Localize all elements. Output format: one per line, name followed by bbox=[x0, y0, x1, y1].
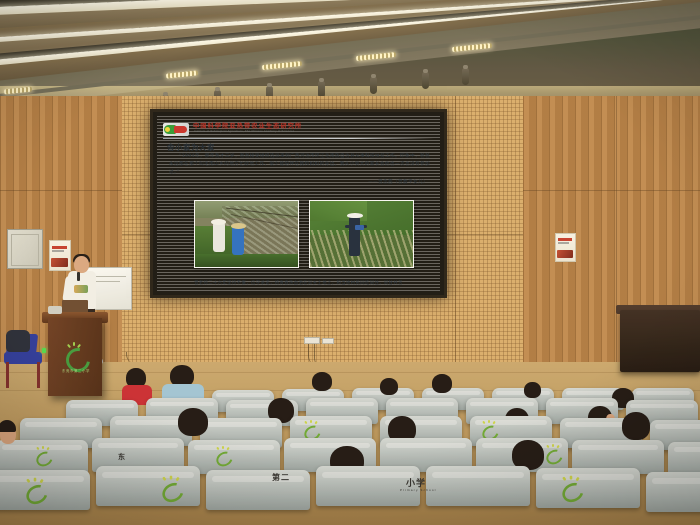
green-sprout-logo-icon bbox=[557, 476, 586, 497]
seat[interactable] bbox=[536, 468, 640, 508]
green-sprout-logo-icon bbox=[300, 420, 322, 436]
wall-poster bbox=[49, 240, 71, 271]
slide-title: 舍小家为大家 bbox=[167, 142, 215, 153]
podium-equipment bbox=[48, 306, 62, 314]
speaker-head bbox=[74, 256, 89, 273]
green-sprout-logo-icon bbox=[212, 446, 234, 462]
green-sprout-logo-icon bbox=[478, 420, 500, 436]
seat[interactable] bbox=[426, 466, 530, 506]
slide-body-span: “1994年，那年我才三岁，爸爸接受组织选派来到广西河池市环江毛南族自治县从事科… bbox=[169, 154, 430, 175]
microphone-icon bbox=[77, 272, 80, 281]
seat[interactable] bbox=[646, 472, 700, 512]
projection-screen: 中国科学院亚热带农业生态研究所 Institute of Subtropical… bbox=[150, 109, 447, 298]
shirt-print bbox=[74, 285, 88, 293]
slide-attribution: ——曾念茜（曾馥平女儿） bbox=[368, 179, 428, 185]
green-sprout-logo-icon bbox=[21, 478, 50, 499]
seat[interactable] bbox=[668, 442, 700, 476]
seat[interactable] bbox=[188, 440, 280, 474]
green-sprout-logo-icon bbox=[32, 446, 54, 462]
auditorium-scene: 中国科学院亚热带农业生态研究所 Institute of Subtropical… bbox=[0, 0, 700, 525]
presentation-slide: 中国科学院亚热带农业生态研究所 Institute of Subtropical… bbox=[157, 116, 440, 291]
acoustic-panel bbox=[455, 96, 525, 368]
wall-poster bbox=[555, 233, 576, 262]
header-divider bbox=[163, 138, 434, 139]
spotlight bbox=[422, 72, 429, 89]
photo-fieldwork-rocky-hillside bbox=[194, 200, 299, 268]
photo-fieldwork-green-slope bbox=[309, 200, 414, 268]
seat-cover-text: 东 bbox=[118, 452, 126, 462]
slide-body-text: “1994年，那年我才三岁，爸爸接受组织选派来到广西河池市环江毛南族自治县从事科… bbox=[169, 153, 430, 178]
green-sprout-logo-icon bbox=[542, 444, 564, 460]
green-sprout-logo-icon bbox=[157, 476, 186, 497]
seat-cover-text: 第二 bbox=[272, 472, 290, 483]
institute-logo-icon bbox=[163, 123, 189, 136]
slide-header: 中国科学院亚热带农业生态研究所 Institute of Subtropical… bbox=[163, 120, 434, 140]
seat[interactable] bbox=[206, 470, 310, 510]
power-outlet[interactable] bbox=[304, 337, 320, 344]
backpack bbox=[6, 330, 30, 352]
power-led-icon bbox=[42, 348, 46, 353]
slide-caption: 曾老师二十六年坚持不懈，信守承诺，将青春热血洒在异乡土地上，和当地村民同吃同住，… bbox=[157, 280, 440, 286]
seat[interactable] bbox=[316, 466, 420, 506]
seat-cover-subtext: Primary School bbox=[400, 488, 437, 492]
institute-name-en: Institute of Subtropical Agriculture, Th… bbox=[194, 130, 294, 133]
electrical-cabinet bbox=[7, 229, 43, 269]
audience-seating: 东 bbox=[0, 360, 700, 525]
spotlight bbox=[462, 68, 469, 85]
spotlight bbox=[370, 77, 377, 94]
